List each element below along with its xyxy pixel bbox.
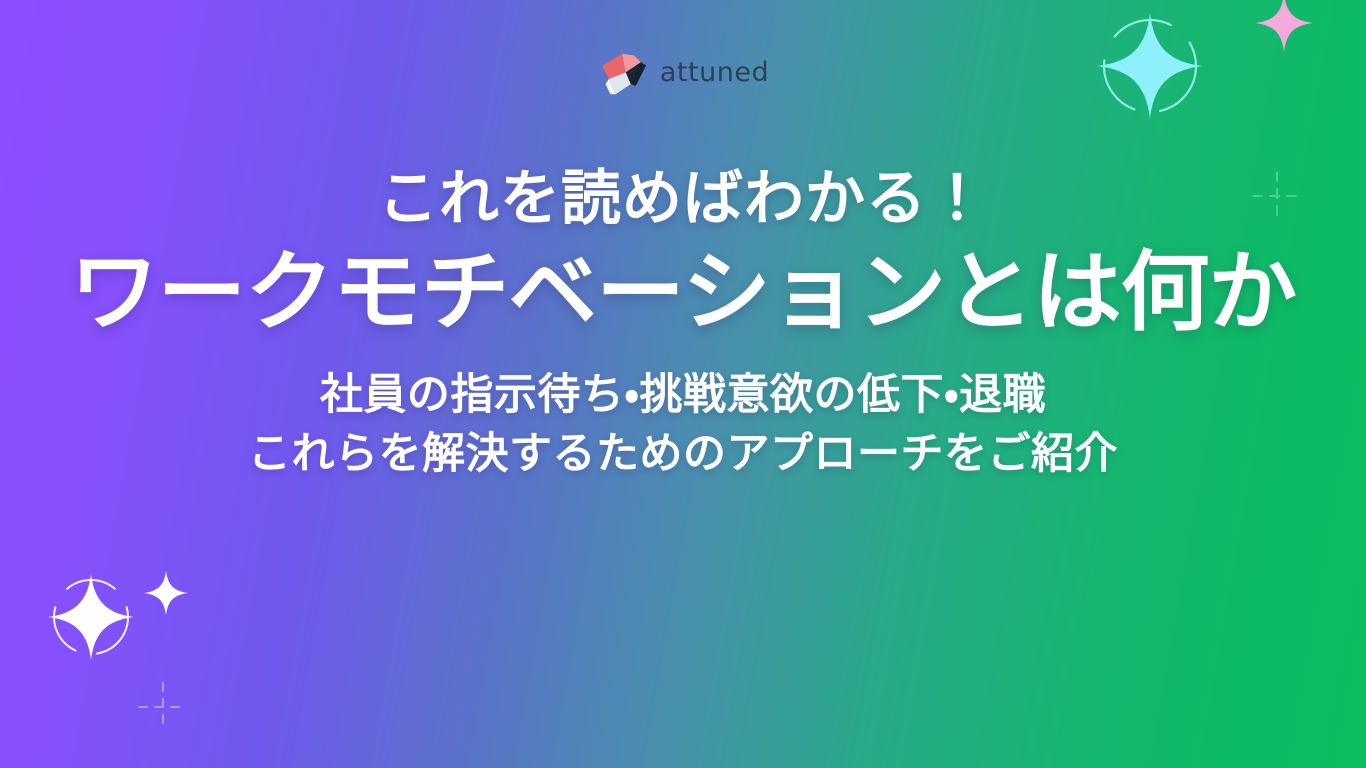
- sparkle-pink-small: [1253, 0, 1315, 54]
- hero-headline: ワークモチベーションとは何か: [0, 241, 1366, 344]
- sparkle-white-small: [142, 569, 190, 617]
- cross-dash-bottom-icon: [133, 677, 193, 737]
- attuned-origami-logo-icon: [597, 47, 651, 101]
- slide-canvas: attuned これを読めばわかる！ ワークモチベーションとは何か 社員の指示待…: [0, 0, 1366, 768]
- hero-text-block: これを読めばわかる！ ワークモチベーションとは何か 社員の指示待ち・挑戦意欲の低…: [0, 166, 1366, 482]
- brand-wordmark: attuned: [660, 59, 769, 89]
- brand-logo: attuned: [0, 47, 1366, 101]
- sparkle-white-large: [46, 572, 136, 662]
- hero-subtitle-line-1: 社員の指示待ち・挑戦意欲の低下・退職: [0, 368, 1366, 423]
- hero-subtitle-line-2: これらを解決するためのアプローチをご紹介: [0, 427, 1366, 482]
- hero-eyebrow: これを読めばわかる！: [0, 166, 1366, 233]
